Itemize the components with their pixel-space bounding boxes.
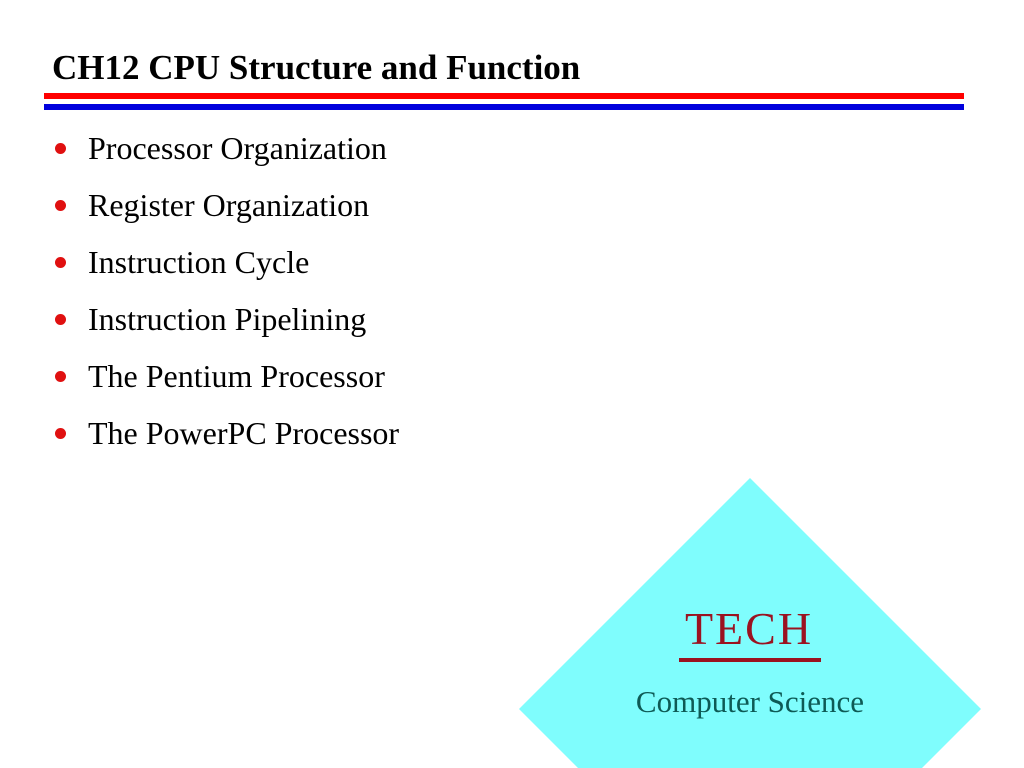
list-item: The Pentium Processor: [52, 348, 752, 405]
list-item: Instruction Pipelining: [52, 291, 752, 348]
title-divider: [44, 93, 964, 111]
list-item-label: Processor Organization: [88, 120, 387, 177]
bullet-dot-icon: [55, 428, 66, 439]
bullet-dot-icon: [55, 200, 66, 211]
logo-primary-text-label: TECH: [679, 603, 821, 662]
bullet-dot-icon: [55, 314, 66, 325]
list-item-label: The Pentium Processor: [88, 348, 385, 405]
list-item-label: The PowerPC Processor: [88, 405, 399, 462]
divider-rule-red: [44, 93, 964, 99]
page-title: CH12 CPU Structure and Function: [52, 47, 580, 89]
list-item: Instruction Cycle: [52, 234, 752, 291]
bullet-dot-icon: [55, 257, 66, 268]
logo-primary-text: TECH: [519, 603, 981, 655]
tech-logo: TECH Computer Science: [519, 478, 981, 768]
list-item: Register Organization: [52, 177, 752, 234]
list-item: The PowerPC Processor: [52, 405, 752, 462]
bullet-dot-icon: [55, 371, 66, 382]
divider-rule-blue: [44, 104, 964, 110]
list-item-label: Register Organization: [88, 177, 369, 234]
bullet-dot-icon: [55, 143, 66, 154]
list-item-label: Instruction Pipelining: [88, 291, 366, 348]
bullet-list: Processor Organization Register Organiza…: [52, 120, 752, 462]
presentation-slide: CH12 CPU Structure and Function Processo…: [0, 0, 1024, 768]
list-item: Processor Organization: [52, 120, 752, 177]
logo-secondary-text: Computer Science: [519, 683, 981, 721]
list-item-label: Instruction Cycle: [88, 234, 309, 291]
